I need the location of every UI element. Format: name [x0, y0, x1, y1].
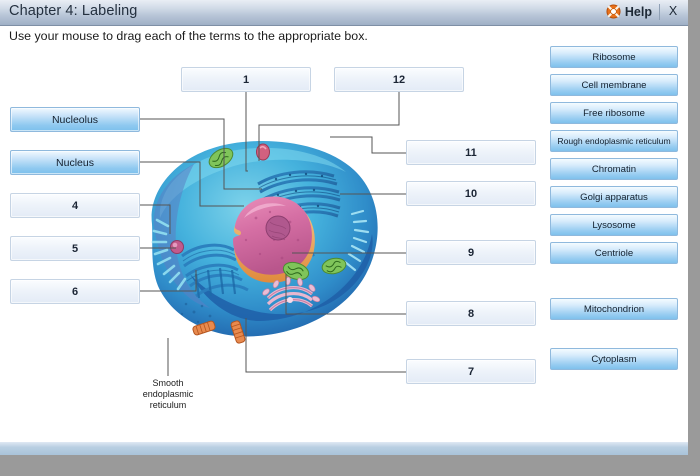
- page-title: Chapter 4: Labeling: [9, 3, 137, 19]
- drop-box-2[interactable]: Nucleolus: [10, 107, 140, 132]
- animal-cell-illustration: [138, 106, 388, 366]
- caption-line: Smooth: [152, 378, 183, 388]
- drop-box-4[interactable]: 4: [10, 193, 140, 218]
- close-icon[interactable]: X: [667, 4, 679, 18]
- window-bottom-gutter: [0, 455, 700, 476]
- drop-box-8[interactable]: 8: [406, 301, 536, 326]
- drop-box-12[interactable]: 12: [334, 67, 464, 92]
- drop-box-10[interactable]: 10: [406, 181, 536, 206]
- drop-box-9[interactable]: 9: [406, 240, 536, 265]
- smooth-er-caption: Smoothendoplasmicreticulum: [124, 378, 212, 411]
- bottom-bar: [0, 441, 688, 455]
- term-cytoplasm[interactable]: Cytoplasm: [550, 348, 678, 370]
- drop-box-6[interactable]: 6: [10, 279, 140, 304]
- term-centriole[interactable]: Centriole: [550, 242, 678, 264]
- activity-canvas: 112NucleolusNucleus4561110987 RibosomeCe…: [0, 46, 688, 441]
- drop-box-3[interactable]: Nucleus: [10, 150, 140, 175]
- term-cell-membrane[interactable]: Cell membrane: [550, 74, 678, 96]
- help-button[interactable]: Help: [606, 4, 652, 19]
- term-chromatin[interactable]: Chromatin: [550, 158, 678, 180]
- caption-line: reticulum: [150, 400, 187, 410]
- drop-box-11[interactable]: 11: [406, 140, 536, 165]
- term-rough-er[interactable]: Rough endoplasmic reticulum: [550, 130, 678, 152]
- caption-line: endoplasmic: [143, 389, 194, 399]
- window-right-gutter: [688, 0, 700, 476]
- lesson-window: Chapter 4: Labeling Help X Use your mous…: [0, 0, 689, 456]
- term-lysosome[interactable]: Lysosome: [550, 214, 678, 236]
- title-bar: Chapter 4: Labeling Help X: [0, 0, 688, 26]
- instruction-text: Use your mouse to drag each of the terms…: [9, 29, 368, 43]
- help-label: Help: [625, 5, 652, 19]
- term-mitochondrion[interactable]: Mitochondrion: [550, 298, 678, 320]
- drop-box-7[interactable]: 7: [406, 359, 536, 384]
- lifebuoy-icon: [606, 4, 621, 19]
- application-root: Chapter 4: Labeling Help X Use your mous…: [0, 0, 700, 476]
- term-golgi[interactable]: Golgi apparatus: [550, 186, 678, 208]
- titlebar-divider: [659, 4, 660, 20]
- term-ribosome[interactable]: Ribosome: [550, 46, 678, 68]
- term-free-ribosome[interactable]: Free ribosome: [550, 102, 678, 124]
- drop-box-1[interactable]: 1: [181, 67, 311, 92]
- drop-box-5[interactable]: 5: [10, 236, 140, 261]
